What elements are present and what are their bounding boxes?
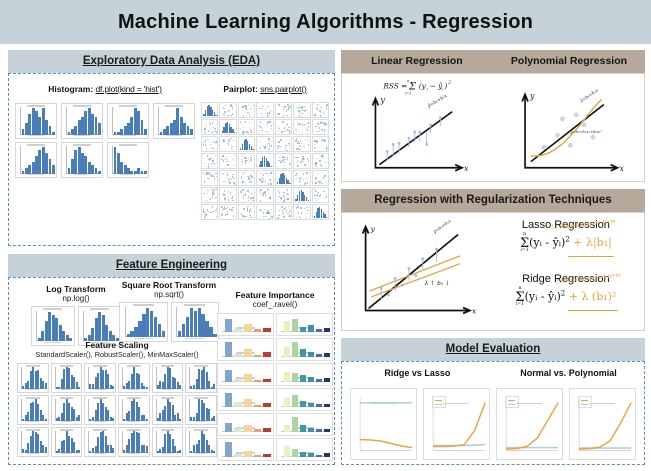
pairplot-code: sns.pairplot() [260, 84, 306, 94]
panel-eda: Exploratory Data Analysis (EDA) Histogra… [8, 50, 335, 246]
ridge-vs-lasso-group: Ridge vs Lasso [346, 368, 489, 378]
model-eval-chart-4 [569, 388, 636, 460]
feature-importance-plot-2-2 [276, 338, 333, 361]
pairplot-cell-6-3 [256, 204, 273, 220]
pairplot-cell-4-3 [256, 170, 273, 186]
histogram-plot-3 [107, 103, 149, 139]
panel-model-evaluation: Model Evaluation Ridge vs Lasso Normal v… [341, 338, 645, 465]
panel-fe-header: Feature Engineering [8, 254, 335, 277]
pairplot-cell-1-0 [201, 119, 218, 135]
pairplot-cell-2-6 [312, 136, 329, 152]
feature-scaling-plot-8 [51, 395, 83, 425]
pairplot-cell-4-0 [201, 170, 218, 186]
ridge-vs-lasso-title: Ridge vs Lasso [346, 368, 489, 378]
pairplot-label: Pairplot: [223, 84, 257, 94]
feature-importance-plot-4-2 [276, 388, 333, 411]
pairplot-cell-5-0 [201, 187, 218, 203]
feature-importance-plot-6-1 [217, 438, 274, 461]
pairplot-cell-3-2 [238, 153, 255, 169]
feature-scaling-plot-9 [84, 395, 116, 425]
lasso-exp: 2 [565, 235, 569, 243]
svg-text:y: y [529, 91, 535, 100]
pairplot-diag-3 [256, 153, 273, 169]
pairplot-cell-0-4 [275, 102, 292, 118]
pairplot-cell-5-4 [275, 187, 292, 203]
feature-importance-plot-4-1 [217, 388, 274, 411]
feature-scaling-code: StandardScaler(), RobustScaler(), MinMax… [17, 350, 217, 359]
panel-me-header: Model Evaluation [341, 338, 645, 361]
lasso-block: Lasso Regression n Σ i=1 (yᵢ - ŷᵢ)2 + λ|… [490, 219, 642, 253]
pairplot-cell-0-1 [219, 102, 236, 118]
feature-scaling-plot-11 [152, 395, 184, 425]
ridge-main: (yᵢ - ŷᵢ) [525, 290, 561, 303]
feature-scaling-plot-3 [84, 363, 116, 393]
pairplot-cell-3-4 [275, 153, 292, 169]
panel-regularization: Regression with Regularization Technique… [341, 189, 645, 331]
pairplot-diag-1 [219, 119, 236, 135]
model-eval-chart-1 [350, 388, 417, 460]
panel-linear-polynomial: Linear Regression Polynomial Regression … [341, 50, 645, 182]
pairplot-cell-0-2 [238, 102, 255, 118]
pairplot-cell-2-1 [219, 136, 236, 152]
histogram-plot-4 [153, 103, 195, 139]
pairplot-cell-2-5 [293, 136, 310, 152]
panel-me-body: Ridge vs Lasso Normal vs. Polynomial [341, 361, 645, 465]
model-eval-chart-2 [423, 388, 490, 460]
pairplot-cell-0-5 [293, 102, 310, 118]
feature-importance-plot-3-1 [217, 363, 274, 386]
histogram-plot-6 [61, 142, 103, 178]
ridge-sum-icon: n Σ i=1 [515, 287, 524, 307]
feature-scaling-plot-14 [51, 427, 83, 457]
svg-text:ŷ=b₀+b₁x: ŷ=b₀+b₁x [579, 88, 600, 105]
pairplot-cell-5-6 [312, 187, 329, 203]
pairplot-cell-1-6 [312, 119, 329, 135]
feature-scaling-plot-1 [17, 363, 49, 393]
pairplot-cell-4-6 [312, 170, 329, 186]
histogram-subtitle: Histogram: df.plot(kind = 'hist') [15, 84, 195, 94]
pairplot-cell-3-0 [201, 153, 218, 169]
feature-scaling-plot-4 [118, 363, 150, 393]
pairplot-cell-5-2 [238, 187, 255, 203]
pairplot-cell-2-4 [275, 136, 292, 152]
page-title-bar: Machine Learning Algorithms - Regression [0, 0, 651, 44]
feature-importance-plot-1-2 [276, 313, 333, 336]
panel-reg-body: y x ŷ=b₀+b₁x λ ↑ b₁ ↓ [341, 212, 645, 331]
sqrt-transform-title: Square Root Transform [119, 280, 219, 290]
feature-scaling-plot-5 [152, 363, 184, 393]
svg-text:ŷ=b₀+b₁x: ŷ=b₀+b₁x [431, 218, 452, 235]
panel-fe-title: Feature Engineering [116, 259, 227, 271]
pairplot-cell-6-4 [275, 204, 292, 220]
histogram-plot-5 [15, 142, 57, 178]
pairplot-cell-4-5 [293, 170, 310, 186]
feature-importance-plot-5-2 [276, 413, 333, 436]
histogram-plot-1 [15, 103, 57, 139]
panel-fe-body: Log Transform np.log() Square Root Trans… [8, 277, 335, 465]
pairplot-cell-0-3 [256, 102, 273, 118]
feature-importance-plot-3-2 [276, 363, 333, 386]
lasso-underline [568, 256, 614, 257]
lasso-formula: n Σ i=1 (yᵢ - ŷᵢ)2 + λ|b₁| L1 Regulariza… [520, 233, 612, 253]
feature-scaling-grid [17, 363, 217, 457]
panel-reg-title: Regression with Regularization Technique… [374, 194, 612, 206]
pairplot-diag-0 [201, 102, 218, 118]
lasso-sum-icon: n Σ i=1 [520, 233, 529, 253]
pairplot-cell-0-6 [312, 102, 329, 118]
panel-feature-engineering: Feature Engineering Log Transform np.log… [8, 254, 335, 465]
page-title: Machine Learning Algorithms - Regression [118, 11, 533, 34]
linear-regression-title: Linear Regression [341, 50, 493, 73]
ridge-exp: 2 [561, 289, 565, 297]
feature-scaling-plot-17 [152, 427, 184, 457]
ridge-block: Ridge Regression n Σ i=1 (yᵢ - ŷᵢ)2 + λ … [490, 273, 642, 307]
svg-text:x: x [472, 306, 477, 315]
pairplot-diag-2 [238, 136, 255, 152]
poster-body: Exploratory Data Analysis (EDA) Histogra… [0, 44, 651, 471]
feature-importance-title: Feature Importance [217, 290, 333, 300]
feature-scaling-plot-6 [185, 363, 217, 393]
svg-text:ŷ=b₀+b₁x₁+b₂x₁²: ŷ=b₀+b₁x₁+b₂x₁² [569, 129, 602, 134]
histogram-plot-2 [61, 103, 103, 139]
pairplot-cell-3-6 [312, 153, 329, 169]
feature-importance-code: coef_.ravel() [217, 300, 333, 309]
panel-lp-body: y x ŷ=b₀+b₁x [341, 73, 645, 182]
pairplot-cell-6-1 [219, 204, 236, 220]
feature-importance-plot-5-1 [217, 413, 274, 436]
lasso-penalty: + λ|b₁| [573, 236, 612, 249]
sqrt-transform-code: np.sqrt() [119, 290, 219, 299]
pairplot-cell-5-1 [219, 187, 236, 203]
pairplot-cell-1-5 [293, 119, 310, 135]
feature-importance-plot-6-2 [276, 438, 333, 461]
left-column: Exploratory Data Analysis (EDA) Histogra… [8, 50, 335, 465]
panel-eda-body: Histogram: df.plot(kind = 'hist') Pairpl… [8, 73, 335, 246]
pairplot-cell-6-0 [201, 204, 218, 220]
histogram-grid [15, 103, 195, 178]
pairplot-cell-6-5 [293, 204, 310, 220]
ridge-formula: n Σ i=1 (yᵢ - ŷᵢ)2 + λ (b₁)² L2 Regulari… [515, 287, 616, 307]
feature-scaling-plot-13 [17, 427, 49, 457]
feature-importance-grid [217, 313, 333, 461]
feature-importance-plot-2-1 [217, 338, 274, 361]
sqrt-transform-plot-2 [171, 302, 220, 342]
pairplot-cell-2-3 [256, 136, 273, 152]
panel-eda-title: Exploratory Data Analysis (EDA) [83, 55, 260, 67]
pairplot-cell-4-2 [238, 170, 255, 186]
pairplot-cell-1-2 [238, 119, 255, 135]
log-transform-code: np.log() [31, 294, 121, 303]
pairplot-diag-4 [275, 170, 292, 186]
pairplot-cell-1-3 [256, 119, 273, 135]
normal-vs-poly-title: Normal vs. Polynomial [497, 368, 640, 378]
pairplot-diag-5 [293, 187, 310, 203]
log-transform-title: Log Transform [31, 284, 121, 294]
lambda-label: λ ↑ b₁ ↓ [424, 280, 450, 287]
pairplot-diag-6 [312, 204, 329, 220]
feature-scaling-plot-18 [185, 427, 217, 457]
sqrt-transform-plot-1 [119, 302, 168, 342]
pairplot-grid [201, 102, 329, 220]
panel-me-title: Model Evaluation [446, 343, 541, 355]
histogram-label: Histogram: [48, 84, 93, 94]
pairplot-cell-3-1 [219, 153, 236, 169]
pairplot-cell-6-2 [238, 204, 255, 220]
normal-vs-poly-group: Normal vs. Polynomial [497, 368, 640, 378]
pairplot-cell-1-4 [275, 119, 292, 135]
feature-scaling-plot-10 [118, 395, 150, 425]
pairplot-subtitle: Pairplot: sns.pairplot() [201, 84, 329, 94]
polynomial-regression-title: Polynomial Regression [493, 50, 645, 73]
svg-text:y: y [369, 225, 375, 234]
panel-eda-header: Exploratory Data Analysis (EDA) [8, 50, 335, 73]
model-eval-chart-3 [496, 388, 563, 460]
polynomial-regression-diagram: y x ŷ=b₀+b₁x ŷ=b₀+b₁x₁+b₂x₁² [342, 74, 644, 181]
feature-scaling-plot-2 [51, 363, 83, 393]
feature-scaling-plot-16 [118, 427, 150, 457]
histogram-code: df.plot(kind = 'hist') [96, 84, 162, 94]
ridge-penalty: + λ (b₁)² [569, 290, 617, 303]
pairplot-cell-5-3 [256, 187, 273, 203]
pairplot-cell-3-5 [293, 153, 310, 169]
pairplot-cell-2-0 [201, 136, 218, 152]
lasso-main: (yᵢ - ŷᵢ) [529, 236, 565, 249]
panel-reg-header: Regression with Regularization Technique… [341, 189, 645, 212]
feature-importance-plot-1-1 [217, 313, 274, 336]
panel-lp-header: Linear Regression Polynomial Regression [341, 50, 645, 73]
svg-text:x: x [619, 164, 624, 173]
sqrt-transform-plots [119, 302, 219, 342]
feature-scaling-plot-15 [84, 427, 116, 457]
pairplot-cell-4-1 [219, 170, 236, 186]
model-eval-charts [350, 388, 636, 460]
feature-scaling-title: Feature Scaling [17, 340, 217, 350]
histogram-plot-7 [107, 142, 149, 178]
right-column: Linear Regression Polynomial Regression … [341, 50, 645, 465]
ridge-underline [568, 310, 618, 311]
feature-scaling-plot-12 [185, 395, 217, 425]
feature-scaling-plot-7 [17, 395, 49, 425]
